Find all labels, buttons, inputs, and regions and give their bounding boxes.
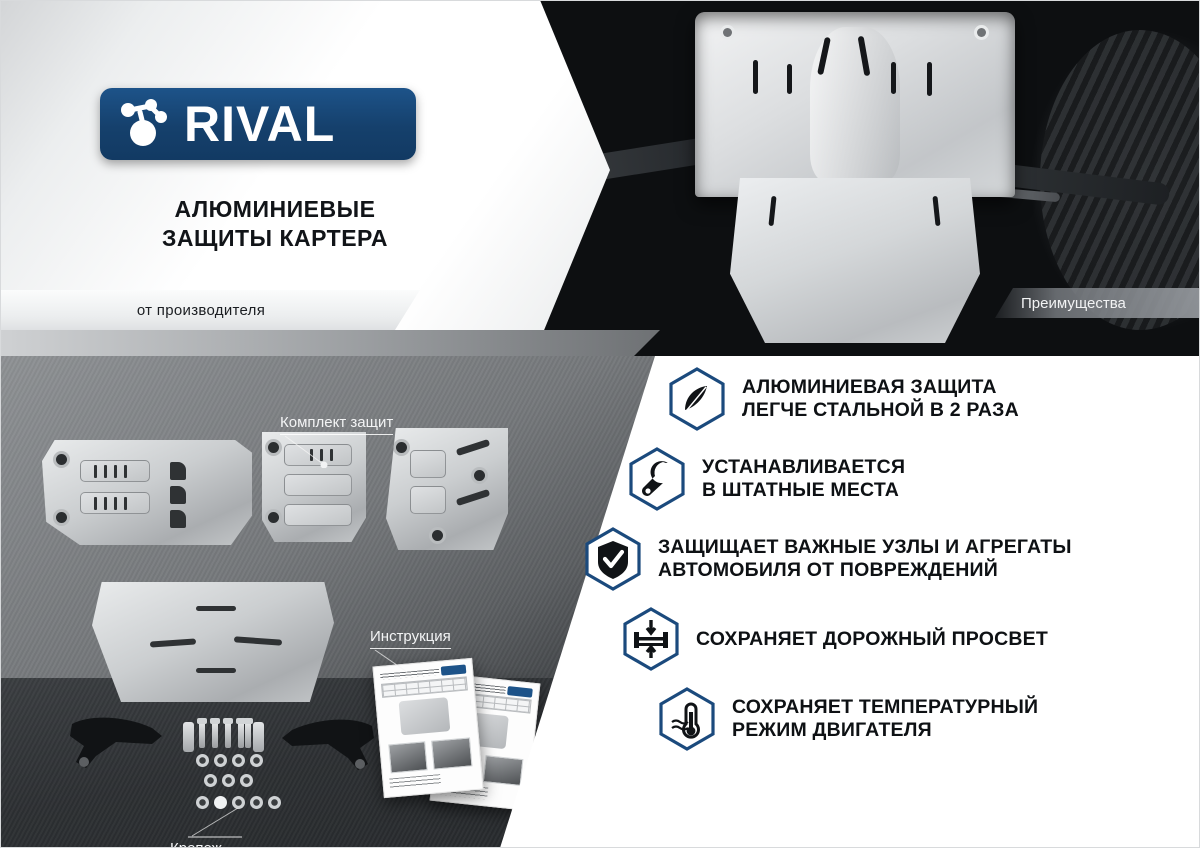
skid-plate-wide bbox=[42, 440, 252, 545]
installed-skid-plate-lower bbox=[730, 178, 980, 343]
skid-plate-large-front bbox=[92, 582, 334, 702]
feature-line2: РЕЖИМ ДВИГАТЕЛЯ bbox=[732, 719, 1038, 742]
leaf-icon bbox=[666, 366, 728, 432]
feature-item-install: УСТАНАВЛИВАЕТСЯ В ШТАТНЫЕ МЕСТА bbox=[626, 446, 1190, 512]
feature-line1: ЗАЩИЩАЕТ ВАЖНЫЕ УЗЛЫ И АГРЕГАТЫ bbox=[658, 536, 1072, 559]
mounting-bracket-right-icon bbox=[268, 714, 378, 784]
wrench-icon bbox=[626, 446, 688, 512]
advantages-tab-label: Преимущества bbox=[995, 295, 1126, 312]
subtitle-text: от производителя bbox=[137, 302, 283, 319]
label-kit-text: Комплект защит bbox=[280, 414, 393, 431]
feature-item-protection: ЗАЩИЩАЕТ ВАЖНЫЕ УЗЛЫ И АГРЕГАТЫ АВТОМОБИ… bbox=[582, 526, 1190, 592]
subtitle-bar: от производителя bbox=[0, 290, 420, 330]
mounting-bracket-left-icon bbox=[66, 712, 176, 782]
advantages-tab: Преимущества bbox=[995, 288, 1200, 318]
feature-text-protection: ЗАЩИЩАЕТ ВАЖНЫЕ УЗЛЫ И АГРЕГАТЫ АВТОМОБИ… bbox=[658, 536, 1072, 582]
page-title: АЛЮМИНИЕВЫЕ ЗАЩИТЫ КАРТЕРА bbox=[60, 195, 490, 254]
feature-item-temperature: СОХРАНЯЕТ ТЕМПЕРАТУРНЫЙ РЕЖИМ ДВИГАТЕЛЯ bbox=[656, 686, 1190, 752]
label-kit: Комплект защит bbox=[280, 414, 393, 435]
molecule-icon bbox=[110, 94, 182, 154]
feature-item-clearance: СОХРАНЯЕТ ДОРОЖНЫЙ ПРОСВЕТ bbox=[620, 606, 1190, 672]
poster-root: RIVAL АЛЮМИНИЕВЫЕ ЗАЩИТЫ КАРТЕРА от прои… bbox=[0, 0, 1200, 848]
section-divider bbox=[0, 330, 660, 356]
leader-line-kit bbox=[283, 436, 328, 468]
shield-check-icon bbox=[582, 526, 644, 592]
feature-text-clearance: СОХРАНЯЕТ ДОРОЖНЫЙ ПРОСВЕТ bbox=[696, 628, 1048, 651]
feature-line2: В ШТАТНЫЕ МЕСТА bbox=[702, 479, 905, 502]
thermometer-icon bbox=[656, 686, 718, 752]
feature-text-temperature: СОХРАНЯЕТ ТЕМПЕРАТУРНЫЙ РЕЖИМ ДВИГАТЕЛЯ bbox=[732, 696, 1038, 742]
rival-logo: RIVAL bbox=[100, 88, 416, 160]
page-title-line1: АЛЮМИНИЕВЫЕ bbox=[60, 195, 490, 224]
label-hardware: Крепеж bbox=[170, 840, 222, 848]
feature-line1: СОХРАНЯЕТ ДОРОЖНЫЙ ПРОСВЕТ bbox=[696, 628, 1048, 651]
installed-skid-plate-upper bbox=[695, 12, 1015, 197]
top-section: RIVAL АЛЮМИНИЕВЫЕ ЗАЩИТЫ КАРТЕРА от прои… bbox=[0, 0, 1200, 356]
feature-text-weight: АЛЮМИНИЕВАЯ ЗАЩИТА ЛЕГЧЕ СТАЛЬНОЙ В 2 РА… bbox=[742, 376, 1019, 422]
instruction-sheet-front bbox=[372, 658, 483, 798]
feature-item-weight: АЛЮМИНИЕВАЯ ЗАЩИТА ЛЕГЧЕ СТАЛЬНОЙ В 2 РА… bbox=[666, 366, 1190, 432]
feature-line2: ЛЕГЧЕ СТАЛЬНОЙ В 2 РАЗА bbox=[742, 399, 1019, 422]
feature-line1: АЛЮМИНИЕВАЯ ЗАЩИТА bbox=[742, 376, 1019, 399]
feature-line2: АВТОМОБИЛЯ ОТ ПОВРЕЖДЕНИЙ bbox=[658, 559, 1072, 582]
leader-line-instruction bbox=[373, 650, 413, 676]
ground-clearance-icon bbox=[620, 606, 682, 672]
feature-line1: УСТАНАВЛИВАЕТСЯ bbox=[702, 456, 905, 479]
label-instruction-text: Инструкция bbox=[370, 628, 451, 645]
skid-plate-right bbox=[386, 428, 508, 550]
leader-line-hardware bbox=[182, 808, 242, 840]
label-hardware-text: Крепеж bbox=[170, 840, 222, 848]
feature-line1: СОХРАНЯЕТ ТЕМПЕРАТУРНЫЙ bbox=[732, 696, 1038, 719]
label-instruction: Инструкция bbox=[370, 628, 451, 649]
page-title-line2: ЗАЩИТЫ КАРТЕРА bbox=[60, 224, 490, 253]
features-list: АЛЮМИНИЕВАЯ ЗАЩИТА ЛЕГЧЕ СТАЛЬНОЙ В 2 РА… bbox=[620, 366, 1190, 766]
feature-text-install: УСТАНАВЛИВАЕТСЯ В ШТАТНЫЕ МЕСТА bbox=[702, 456, 905, 502]
logo-wordmark: RIVAL bbox=[184, 99, 335, 149]
